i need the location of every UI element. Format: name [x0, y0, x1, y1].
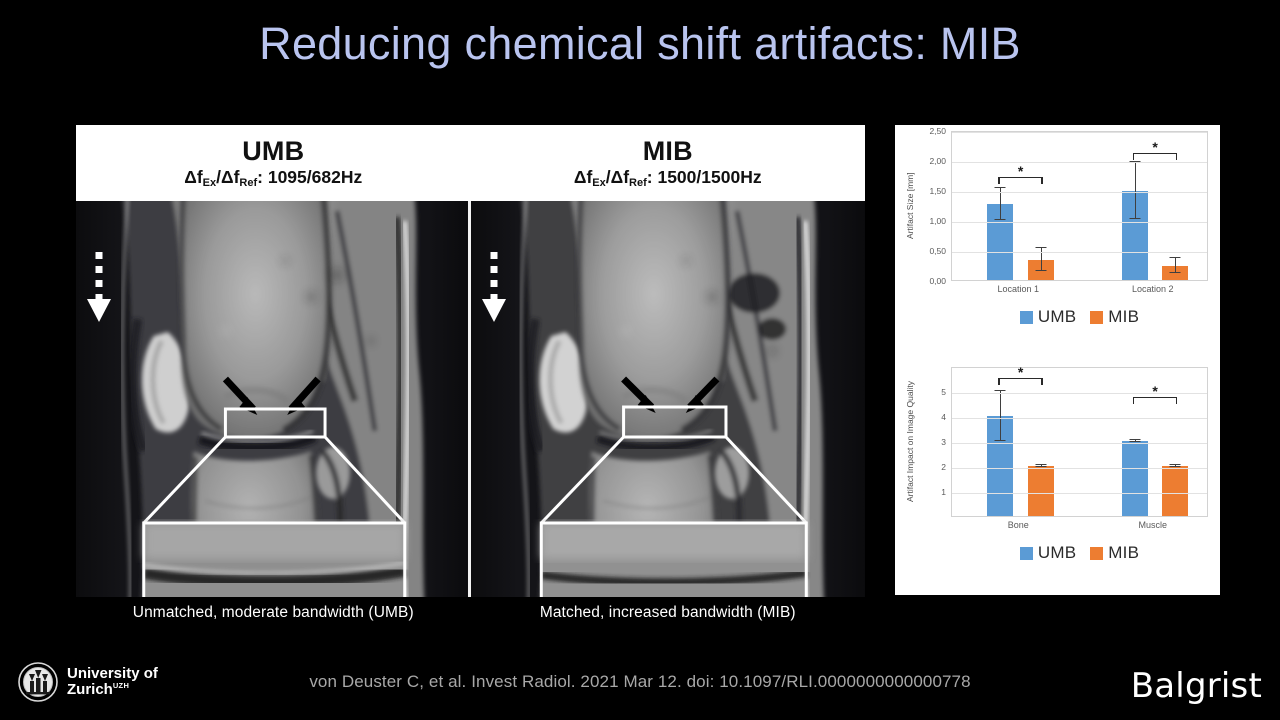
- caption-umb: Unmatched, moderate bandwidth (UMB): [76, 604, 471, 622]
- umb-df-ex: Ex: [203, 177, 216, 189]
- error-bar-cap: [1170, 272, 1181, 273]
- uzh-line1: University of: [67, 665, 158, 682]
- bar-mib: [1162, 466, 1188, 516]
- y-tick-label: 1,00: [929, 216, 946, 226]
- bar-mib: [1028, 466, 1054, 516]
- bracket-left-tick: [1133, 397, 1134, 404]
- x-axis-label: Bone: [1008, 520, 1029, 530]
- legend-label-mib: MIB: [1108, 307, 1139, 327]
- bar-fill: [1122, 441, 1148, 516]
- bracket-left-tick: [1133, 153, 1134, 160]
- error-bar-cap: [995, 219, 1006, 220]
- bracket-left-tick: [998, 177, 999, 184]
- error-bar-cap: [1129, 218, 1140, 219]
- university-of-zurich-logo: University of ZurichUZH: [18, 662, 158, 702]
- grid-line: [952, 132, 1207, 133]
- balgrist-logo: Balgrist: [1131, 666, 1262, 706]
- grid-line: [952, 192, 1207, 193]
- chart-artifact-size: Artifact Size [mm] 0,000,501,001,502,002…: [903, 131, 1212, 363]
- legend-item-umb: UMB: [1020, 307, 1076, 327]
- bar-umb: [987, 416, 1013, 516]
- bar-group: *: [952, 132, 1087, 280]
- page-title: Reducing chemical shift artifacts: MIB: [0, 18, 1280, 70]
- error-bar: [1135, 162, 1136, 218]
- mib-df-ref: Ref: [629, 177, 647, 189]
- legend-label-umb: UMB: [1038, 543, 1076, 563]
- error-bar-cap: [1035, 464, 1046, 465]
- mri-image-mib: [471, 201, 866, 597]
- bar-umb: [987, 204, 1013, 280]
- y-tick-label: 0,00: [929, 276, 946, 286]
- charts-panel: Artifact Size [mm] 0,000,501,001,502,002…: [895, 125, 1220, 595]
- bar-group: *: [1087, 132, 1222, 280]
- chart-artifact-impact-plot-area: Artifact Impact on Image Quality 12345 *…: [903, 367, 1212, 537]
- chart-artifact-impact-yticks: 12345: [919, 367, 949, 517]
- chart-artifact-impact-xlabels: BoneMuscle: [951, 520, 1208, 536]
- chart-artifact-size-plot: **: [951, 131, 1208, 281]
- mib-df-ex: Ex: [592, 177, 605, 189]
- mri-captions: Unmatched, moderate bandwidth (UMB) Matc…: [76, 604, 865, 622]
- legend-label-umb: UMB: [1038, 307, 1076, 327]
- bar-umb: [1122, 191, 1148, 280]
- mib-df-prefix: Δf: [574, 167, 592, 187]
- magnified-inset: [541, 523, 806, 597]
- error-bar-cap: [1129, 439, 1140, 440]
- significance-star: *: [1133, 140, 1177, 154]
- y-tick-label: 5: [941, 387, 946, 397]
- error-bar-cap: [1035, 247, 1046, 248]
- error-bar-cap: [1035, 270, 1046, 271]
- caption-mib: Matched, increased bandwidth (MIB): [471, 604, 866, 622]
- grid-line: [952, 393, 1207, 394]
- dashed-down-arrow-icon: [86, 249, 112, 324]
- dashed-down-arrow-icon: [481, 249, 507, 324]
- umb-df-mid: /Δf: [216, 167, 239, 187]
- mri-header-umb: UMB ΔfEx/ΔfRef: 1095/682Hz: [76, 125, 471, 201]
- mri-figure-header: UMB ΔfEx/ΔfRef: 1095/682Hz MIB ΔfEx/ΔfRe…: [76, 125, 865, 201]
- knee-mri-umb-render: [76, 201, 468, 597]
- chart-artifact-size-plot-area: Artifact Size [mm] 0,000,501,001,502,002…: [903, 131, 1212, 301]
- slide-canvas: Reducing chemical shift artifacts: MIB U…: [0, 0, 1280, 720]
- legend-item-umb: UMB: [1020, 543, 1076, 563]
- umb-df-value: : 1095/682Hz: [257, 167, 362, 187]
- grid-line: [952, 222, 1207, 223]
- legend-label-mib: MIB: [1108, 543, 1139, 563]
- bar-umb: [1122, 441, 1148, 516]
- chart-artifact-size-yticks: 0,000,501,001,502,002,50: [919, 131, 949, 281]
- magnified-inset: [144, 523, 405, 597]
- error-bar-cap: [1035, 466, 1046, 467]
- y-tick-label: 3: [941, 437, 946, 447]
- mib-df-mid: /Δf: [606, 167, 629, 187]
- mri-header-mib-title: MIB: [643, 137, 693, 165]
- x-axis-label: Location 2: [1132, 284, 1174, 294]
- bar-fill: [1028, 466, 1054, 516]
- error-bar-cap: [995, 440, 1006, 441]
- bracket-right-tick: [1176, 397, 1177, 404]
- error-bar: [1175, 258, 1176, 274]
- mri-image-umb: [76, 201, 471, 597]
- chart-artifact-impact: Artifact Impact on Image Quality 12345 *…: [903, 367, 1212, 595]
- y-tick-label: 1: [941, 487, 946, 497]
- mib-df-value: : 1500/1500Hz: [647, 167, 762, 187]
- bracket-left-tick: [998, 378, 999, 385]
- bracket-right-tick: [1041, 378, 1042, 385]
- mri-header-umb-subtitle: ΔfEx/ΔfRef: 1095/682Hz: [184, 169, 362, 189]
- significance-star: *: [1133, 384, 1177, 398]
- grid-line: [952, 443, 1207, 444]
- legend-swatch-umb: [1020, 547, 1033, 560]
- umb-df-prefix: Δf: [184, 167, 202, 187]
- y-tick-label: 1,50: [929, 186, 946, 196]
- error-bar: [1000, 391, 1001, 441]
- grid-line: [952, 252, 1207, 253]
- chart-artifact-impact-plot: **: [951, 367, 1208, 517]
- y-tick-label: 4: [941, 412, 946, 422]
- legend-item-mib: MIB: [1090, 307, 1139, 327]
- y-tick-label: 2,50: [929, 126, 946, 136]
- grid-line: [952, 162, 1207, 163]
- error-bar-cap: [1170, 257, 1181, 258]
- uzh-abbrev: UZH: [113, 681, 129, 690]
- error-bar-cap: [995, 187, 1006, 188]
- error-bar-cap: [1170, 466, 1181, 467]
- x-axis-label: Location 1: [997, 284, 1039, 294]
- knee-mri-mib-render: [471, 201, 866, 597]
- chart-artifact-size-bars: **: [952, 132, 1207, 280]
- chart-artifact-impact-legend: UMB MIB: [951, 543, 1208, 563]
- uzh-line2: Zurich: [67, 681, 113, 698]
- uzh-seal-icon: [18, 662, 58, 702]
- bar-fill: [1162, 466, 1188, 516]
- bar-mib: [1162, 266, 1188, 280]
- grid-line: [952, 418, 1207, 419]
- y-tick-label: 2: [941, 462, 946, 472]
- chart-artifact-size-xlabels: Location 1Location 2: [951, 284, 1208, 300]
- mri-comparison-figure: UMB ΔfEx/ΔfRef: 1095/682Hz MIB ΔfEx/ΔfRe…: [76, 125, 865, 597]
- umb-df-ref: Ref: [239, 177, 257, 189]
- chart-artifact-size-legend: UMB MIB: [951, 307, 1208, 327]
- grid-line: [952, 493, 1207, 494]
- legend-item-mib: MIB: [1090, 543, 1139, 563]
- error-bar-cap: [995, 390, 1006, 391]
- y-tick-label: 2,00: [929, 156, 946, 166]
- legend-swatch-umb: [1020, 311, 1033, 324]
- mri-header-mib-subtitle: ΔfEx/ΔfRef: 1500/1500Hz: [574, 169, 762, 189]
- uzh-wordmark: University of ZurichUZH: [67, 666, 158, 698]
- bar-mib: [1028, 260, 1054, 280]
- chart-artifact-size-ylabel: Artifact Size [mm]: [905, 131, 915, 281]
- significance-star: *: [998, 365, 1042, 379]
- mri-header-mib: MIB ΔfEx/ΔfRef: 1500/1500Hz: [471, 125, 866, 201]
- chart-artifact-impact-ylabel: Artifact Impact on Image Quality: [905, 367, 915, 517]
- error-bar-cap: [1170, 464, 1181, 465]
- mri-header-umb-title: UMB: [242, 137, 304, 165]
- significance-star: *: [998, 164, 1042, 178]
- bracket-right-tick: [1176, 153, 1177, 160]
- citation-text: von Deuster C, et al. Invest Radiol. 202…: [0, 672, 1280, 692]
- bracket-right-tick: [1041, 177, 1042, 184]
- grid-line: [952, 468, 1207, 469]
- mri-image-row: [76, 201, 865, 597]
- x-axis-label: Muscle: [1138, 520, 1167, 530]
- legend-swatch-mib: [1090, 547, 1103, 560]
- legend-swatch-mib: [1090, 311, 1103, 324]
- error-bar-cap: [1129, 441, 1140, 442]
- y-tick-label: 0,50: [929, 246, 946, 256]
